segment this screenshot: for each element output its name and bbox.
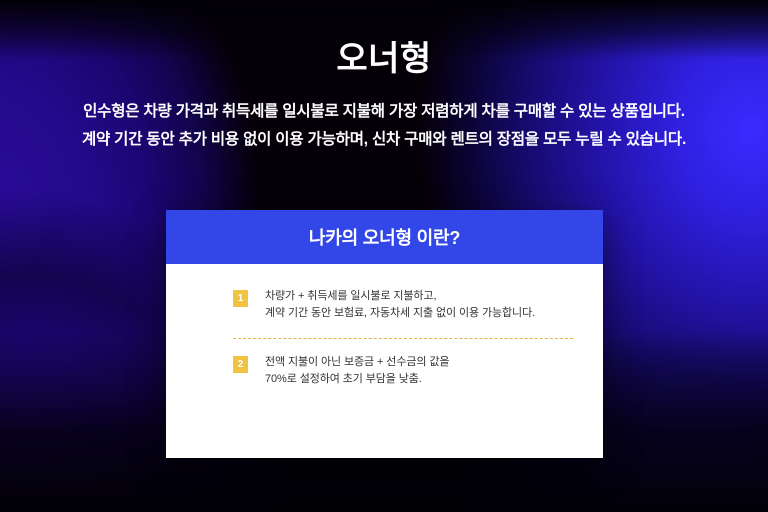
list-item: 1 차량가 + 취득세를 일시불로 지불하고, 계약 기간 동안 보험료, 자동… [166,288,603,322]
info-card-body: 1 차량가 + 취득세를 일시불로 지불하고, 계약 기간 동안 보험료, 자동… [166,264,603,458]
hero-section: 오너형 인수형은 차량 가격과 취득세를 일시불로 지불해 가장 저렴하게 차를… [0,0,768,154]
hero-description-line-2: 계약 기간 동안 추가 비용 없이 이용 가능하며, 신차 구매와 렌트의 장점… [0,126,768,154]
list-item-badge-2: 2 [233,356,248,373]
hero-description: 인수형은 차량 가격과 취득세를 일시불로 지불해 가장 저렴하게 차를 구매할… [0,80,768,154]
info-card-header: 나카의 오너형 이란? [166,210,603,264]
page-title: 오너형 [0,0,768,80]
info-card-title: 나카의 오너형 이란? [309,224,460,250]
info-card: 나카의 오너형 이란? 1 차량가 + 취득세를 일시불로 지불하고, 계약 기… [166,210,603,458]
hero-description-line-1: 인수형은 차량 가격과 취득세를 일시불로 지불해 가장 저렴하게 차를 구매할… [0,98,768,126]
list-item-text-2: 전액 지불이 아닌 보증금 + 선수금의 값을 70%로 설정하여 초기 부담을… [265,354,449,388]
list-item-1-line-1: 차량가 + 취득세를 일시불로 지불하고, [265,288,535,305]
dashed-divider [233,338,573,339]
list-item: 2 전액 지불이 아닌 보증금 + 선수금의 값을 70%로 설정하여 초기 부… [166,354,603,388]
list-item-2-line-2: 70%로 설정하여 초기 부담을 낮춤. [265,371,449,388]
list-item-badge-1: 1 [233,290,248,307]
list-item-2-line-1: 전액 지불이 아닌 보증금 + 선수금의 값을 [265,354,449,371]
list-item-1-line-2: 계약 기간 동안 보험료, 자동차세 지출 없이 이용 가능합니다. [265,305,535,322]
promo-slide: 오너형 인수형은 차량 가격과 취득세를 일시불로 지불해 가장 저렴하게 차를… [0,0,768,512]
list-item-text-1: 차량가 + 취득세를 일시불로 지불하고, 계약 기간 동안 보험료, 자동차세… [265,288,535,322]
